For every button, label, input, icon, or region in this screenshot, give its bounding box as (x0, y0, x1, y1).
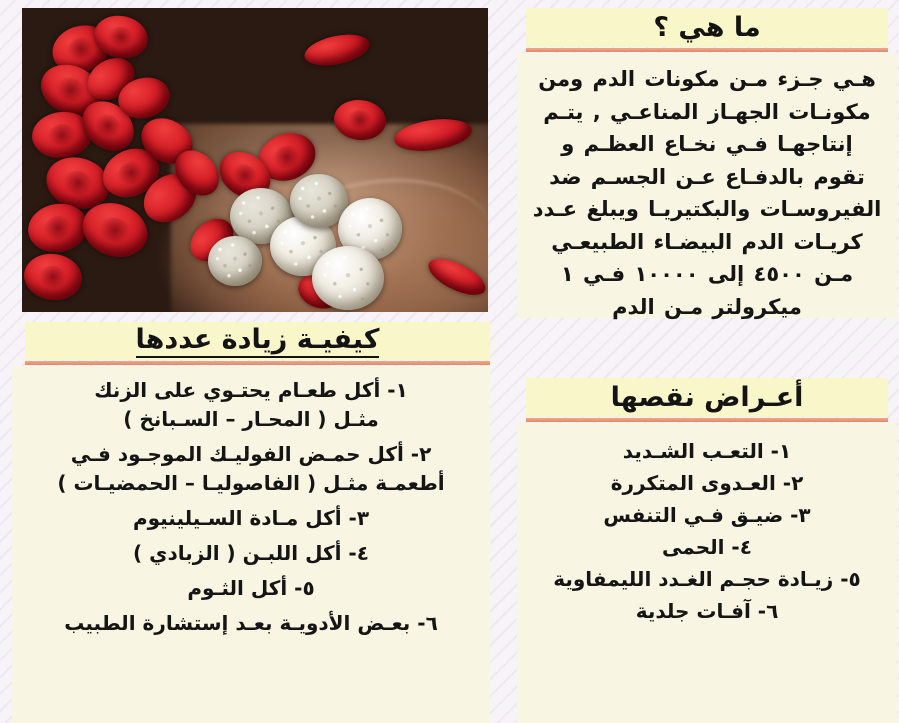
list-item: ٤- أكل اللبـن ( الزبادي ) (30, 539, 472, 568)
left-column: كيفيـة زيادة عددها ١- أكل طعـام يحتـوي ع… (0, 0, 505, 723)
list-item: ١- أكل طعـام يحتـوي على الزنك مثـل ( الم… (30, 376, 472, 434)
right-column: ما هي ؟ هـي جـزء مـن مكونات الدم ومن مكو… (505, 0, 899, 723)
what-is-it-rule (526, 48, 888, 52)
red-blood-cell (22, 250, 85, 304)
list-item: ١- التعـب الشـديد (531, 437, 883, 466)
list-item: ٥- أكل الثـوم (30, 574, 472, 603)
blood-cells-electron-micrograph (22, 8, 488, 312)
how-to-increase-title: كيفيـة زيادة عددها (136, 324, 380, 358)
what-is-it-title: ما هي ؟ (653, 12, 760, 43)
white-blood-cell (208, 236, 262, 286)
deficiency-symptoms-title: أعـراض نقصها (611, 382, 804, 413)
deficiency-symptoms-list: ١- التعـب الشـديد ٢- العـدوى المتكررة ٣-… (531, 437, 883, 626)
red-blood-cell (302, 29, 372, 70)
list-item: ٢- أكل حمـض الفوليـك الموجـود فـي أطعمـة… (30, 440, 472, 498)
what-is-it-header: ما هي ؟ (526, 8, 888, 47)
list-item: ٦- آفـات جلدية (531, 597, 883, 626)
infographic-page: كيفيـة زيادة عددها ١- أكل طعـام يحتـوي ع… (0, 0, 899, 723)
list-item: ٦- بعـض الأدويـة بعـد إستشارة الطبيب (30, 609, 472, 638)
how-to-increase-body: ١- أكل طعـام يحتـوي على الزنك مثـل ( الم… (12, 366, 490, 723)
how-to-increase-rule (25, 361, 490, 365)
what-is-it-paragraph: هـي جـزء مـن مكونات الدم ومن مكونـات الج… (531, 63, 883, 323)
deficiency-symptoms-header: أعـراض نقصها (526, 378, 888, 417)
what-is-it-body: هـي جـزء مـن مكونات الدم ومن مكونـات الج… (517, 53, 897, 318)
how-to-increase-list: ١- أكل طعـام يحتـوي على الزنك مثـل ( الم… (30, 376, 472, 638)
how-to-increase-header: كيفيـة زيادة عددها (25, 322, 490, 360)
list-item: ٤- الحمى (531, 533, 883, 562)
list-item: ٥- زيـادة حجـم الغـدد الليمفاوية (531, 565, 883, 594)
list-item: ٢- العـدوى المتكررة (531, 469, 883, 498)
micrograph-canvas (22, 8, 488, 312)
white-blood-cell (312, 246, 384, 310)
list-item: ٣- ضيـق فـي التنفس (531, 501, 883, 530)
deficiency-symptoms-body: ١- التعـب الشـديد ٢- العـدوى المتكررة ٣-… (517, 423, 897, 723)
list-item: ٣- أكل مـادة السـيلينيوم (30, 504, 472, 533)
deficiency-symptoms-rule (526, 418, 888, 422)
